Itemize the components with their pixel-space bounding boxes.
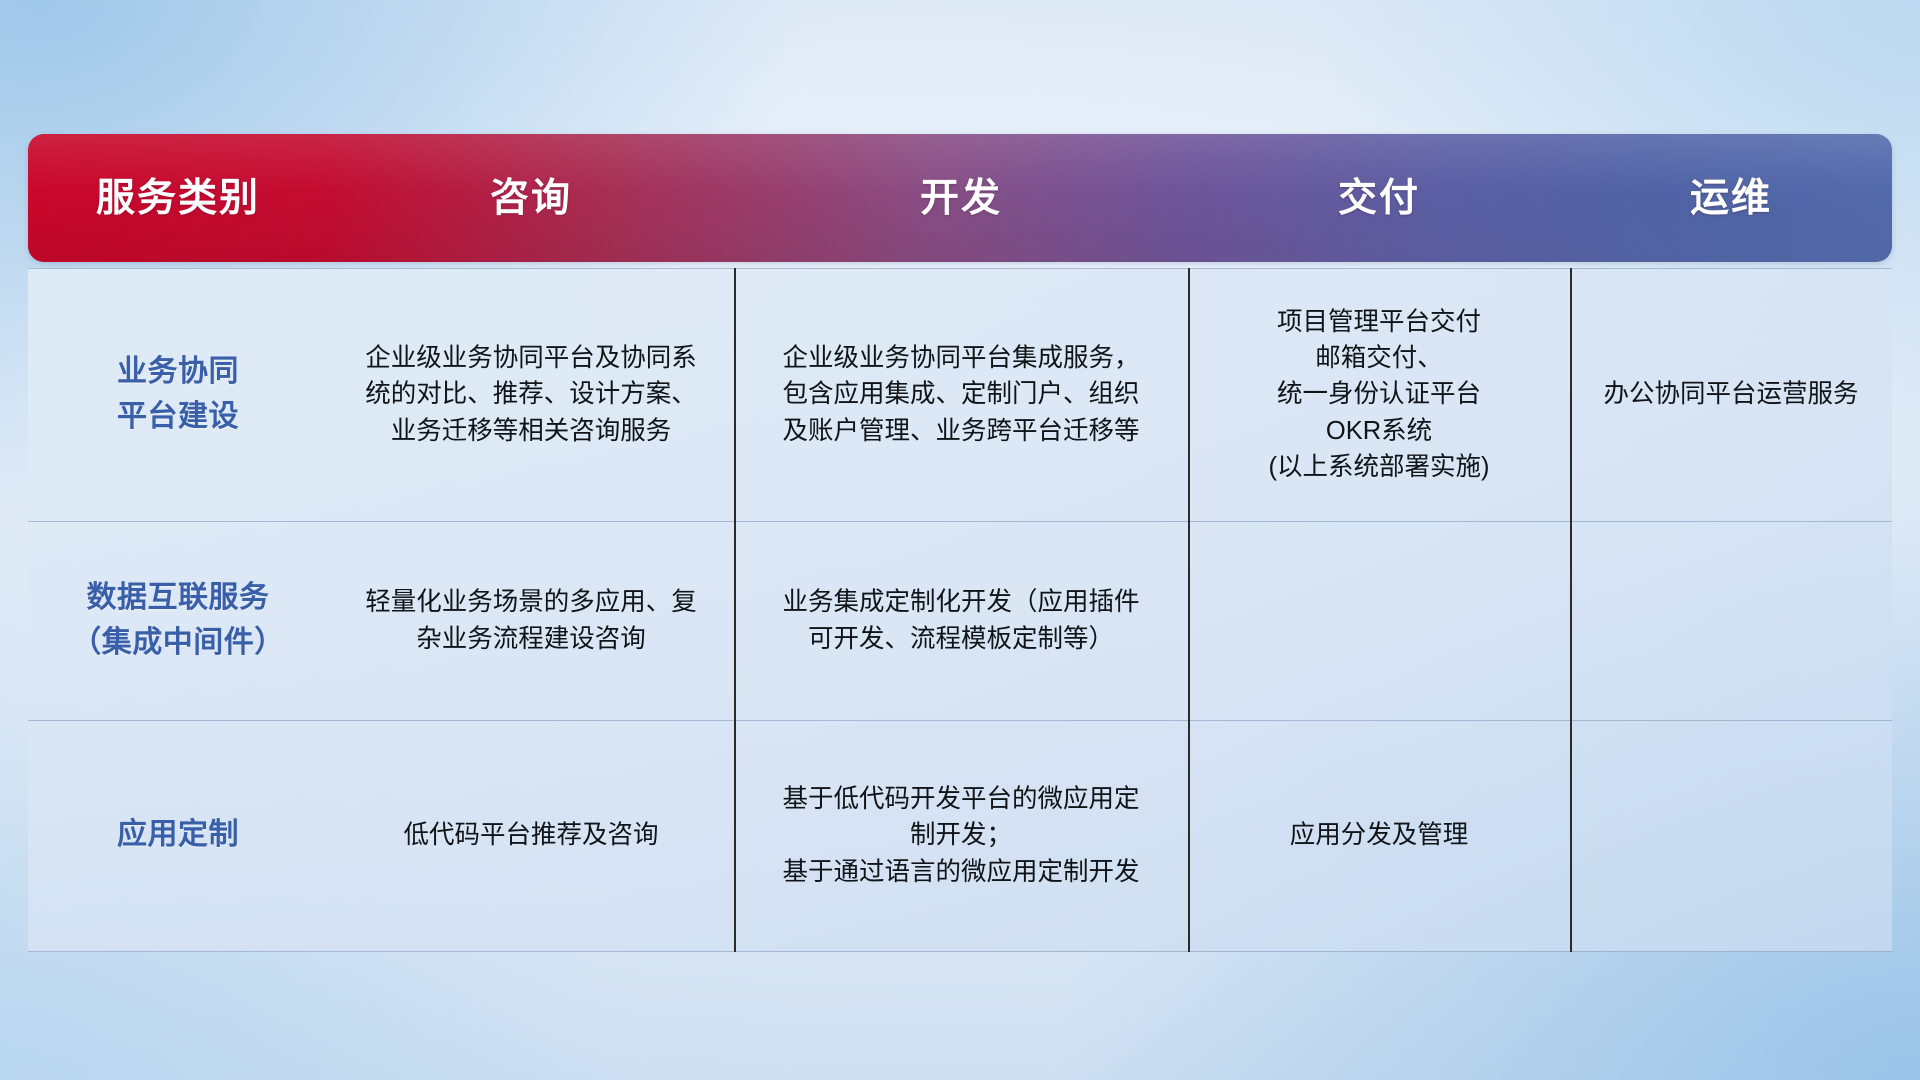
column-header-category: 服务类别	[28, 179, 328, 218]
row-divider-1	[28, 521, 1892, 522]
cell-development-1: 业务集成定制化开发（应用插件 可开发、流程模板定制等）	[734, 521, 1188, 720]
cell-category-2: 应用定制	[28, 720, 328, 951]
cell-delivery-2: 应用分发及管理	[1188, 720, 1570, 951]
table-row: 数据互联服务 （集成中间件） 轻量化业务场景的多应用、复 杂业务流程建设咨询 业…	[28, 521, 1892, 720]
table-body: 业务协同 平台建设 企业级业务协同平台及协同系 统的对比、推荐、设计方案、 业务…	[28, 268, 1892, 952]
cell-category-1: 数据互联服务 （集成中间件）	[28, 521, 328, 720]
cell-consulting-1: 轻量化业务场景的多应用、复 杂业务流程建设咨询	[328, 521, 734, 720]
cell-delivery-0: 项目管理平台交付 邮箱交付、 统一身份认证平台 OKR系统 (以上系统部署实施)	[1188, 268, 1570, 521]
row-divider-top	[28, 268, 1892, 269]
cell-operations-0: 办公协同平台运营服务	[1570, 268, 1892, 521]
cell-development-0: 企业级业务协同平台集成服务， 包含应用集成、定制门户、组织 及账户管理、业务跨平…	[734, 268, 1188, 521]
table-row: 应用定制 低代码平台推荐及咨询 基于低代码开发平台的微应用定 制开发； 基于通过…	[28, 720, 1892, 951]
table-header-row: 服务类别 咨询 开发 交付 运维	[28, 134, 1892, 262]
cell-development-2: 基于低代码开发平台的微应用定 制开发； 基于通过语言的微应用定制开发	[734, 720, 1188, 951]
row-divider-bottom	[28, 951, 1892, 952]
cell-consulting-0: 企业级业务协同平台及协同系 统的对比、推荐、设计方案、 业务迁移等相关咨询服务	[328, 268, 734, 521]
row-divider-2	[28, 720, 1892, 721]
table-row: 业务协同 平台建设 企业级业务协同平台及协同系 统的对比、推荐、设计方案、 业务…	[28, 268, 1892, 521]
cell-consulting-2: 低代码平台推荐及咨询	[328, 720, 734, 951]
service-matrix-table: 服务类别 咨询 开发 交付 运维 业务协同 平台建设 企业级业务协同平台及协同系…	[28, 134, 1892, 952]
column-header-consulting: 咨询	[328, 179, 734, 218]
cell-delivery-1	[1188, 521, 1570, 720]
cell-category-0: 业务协同 平台建设	[28, 268, 328, 521]
cell-operations-1	[1570, 521, 1892, 720]
column-header-operations: 运维	[1570, 179, 1892, 218]
cell-operations-2	[1570, 720, 1892, 951]
column-header-development: 开发	[734, 179, 1188, 218]
column-header-delivery: 交付	[1188, 179, 1570, 218]
